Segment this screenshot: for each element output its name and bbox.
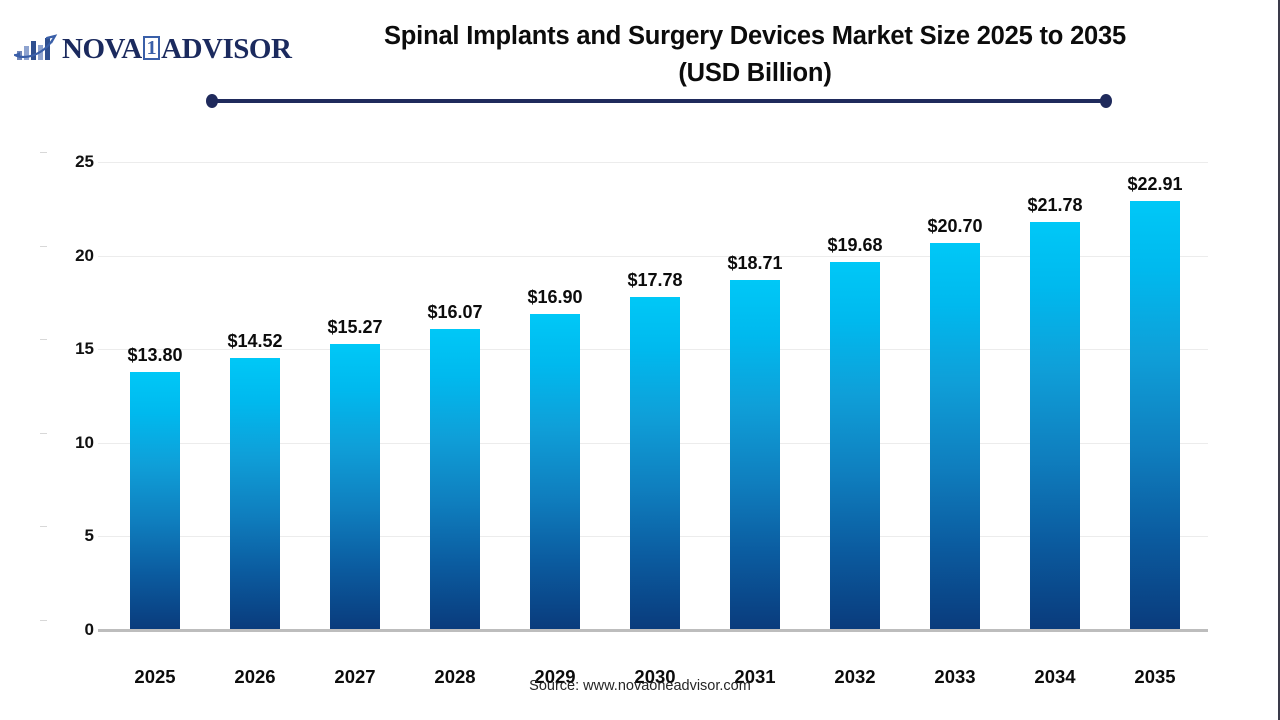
logo-text-nova: NOVA (62, 33, 142, 66)
bar-slot: $21.78 (1005, 162, 1105, 630)
bar-value-label: $17.78 (605, 270, 705, 291)
logo-boxed-one: 1 (143, 36, 161, 60)
bar-slot: $13.80 (105, 162, 205, 630)
bar[interactable] (730, 280, 780, 630)
bar-slot: $14.52 (205, 162, 305, 630)
bar[interactable] (230, 358, 280, 630)
title-divider (206, 94, 1112, 108)
plot-area: 0510152025 $13.80$14.52$15.27$16.07$16.9… (98, 162, 1208, 630)
bar[interactable] (830, 262, 880, 630)
chart-page: NOVA1ADVISOR Spinal Implants and Surgery… (0, 0, 1280, 720)
bar-slot: $20.70 (905, 162, 1005, 630)
y-axis-tick-mark (40, 620, 47, 621)
bar[interactable] (430, 329, 480, 630)
bar-value-label: $21.78 (1005, 195, 1105, 216)
bar[interactable] (630, 297, 680, 630)
bar-slot: $17.78 (605, 162, 705, 630)
bar-value-label: $15.27 (305, 317, 405, 338)
y-axis-tick-label: 15 (50, 339, 94, 359)
y-axis-tick-label: 25 (50, 152, 94, 172)
y-axis-tick-mark (40, 246, 47, 247)
bar-value-label: $13.80 (105, 345, 205, 366)
chart-title: Spinal Implants and Surgery Devices Mark… (240, 18, 1270, 92)
bar[interactable] (1030, 222, 1080, 630)
y-axis-tick-label: 0 (50, 620, 94, 640)
bar-value-label: $16.90 (505, 287, 605, 308)
bar-value-label: $20.70 (905, 216, 1005, 237)
divider-dot-right (1100, 94, 1112, 108)
chart-title-line1: Spinal Implants and Surgery Devices Mark… (384, 22, 1126, 50)
bar-chart-swoosh-logo-icon (14, 34, 60, 64)
bar-slot: $22.91 (1105, 162, 1205, 630)
x-axis-line (98, 629, 1208, 632)
y-axis-tick-mark (40, 152, 47, 153)
bar-value-label: $19.68 (805, 235, 905, 256)
divider-line (212, 99, 1106, 103)
y-axis-tick-mark (40, 339, 47, 340)
bar-value-label: $18.71 (705, 253, 805, 274)
source-note: Source: www.novaoneadvisor.com (0, 678, 1280, 694)
bar[interactable] (130, 372, 180, 630)
bar-slot: $19.68 (805, 162, 905, 630)
bar-chart: 0510152025 $13.80$14.52$15.27$16.07$16.9… (0, 130, 1280, 660)
bar[interactable] (930, 243, 980, 631)
bar-value-label: $16.07 (405, 302, 505, 323)
bar[interactable] (330, 344, 380, 630)
bar-slot: $18.71 (705, 162, 805, 630)
bar-value-label: $14.52 (205, 331, 305, 352)
y-axis-tick-label: 5 (50, 526, 94, 546)
y-axis-tick-label: 10 (50, 433, 94, 453)
y-axis-tick-mark (40, 433, 47, 434)
bar-slot: $15.27 (305, 162, 405, 630)
bar[interactable] (1130, 201, 1180, 630)
bar[interactable] (530, 314, 580, 630)
chart-title-line2: (USD Billion) (240, 55, 1270, 92)
bar-value-label: $22.91 (1105, 174, 1205, 195)
y-axis-tick-label: 20 (50, 246, 94, 266)
bar-slot: $16.90 (505, 162, 605, 630)
y-axis-tick-mark (40, 526, 47, 527)
bar-slot: $16.07 (405, 162, 505, 630)
